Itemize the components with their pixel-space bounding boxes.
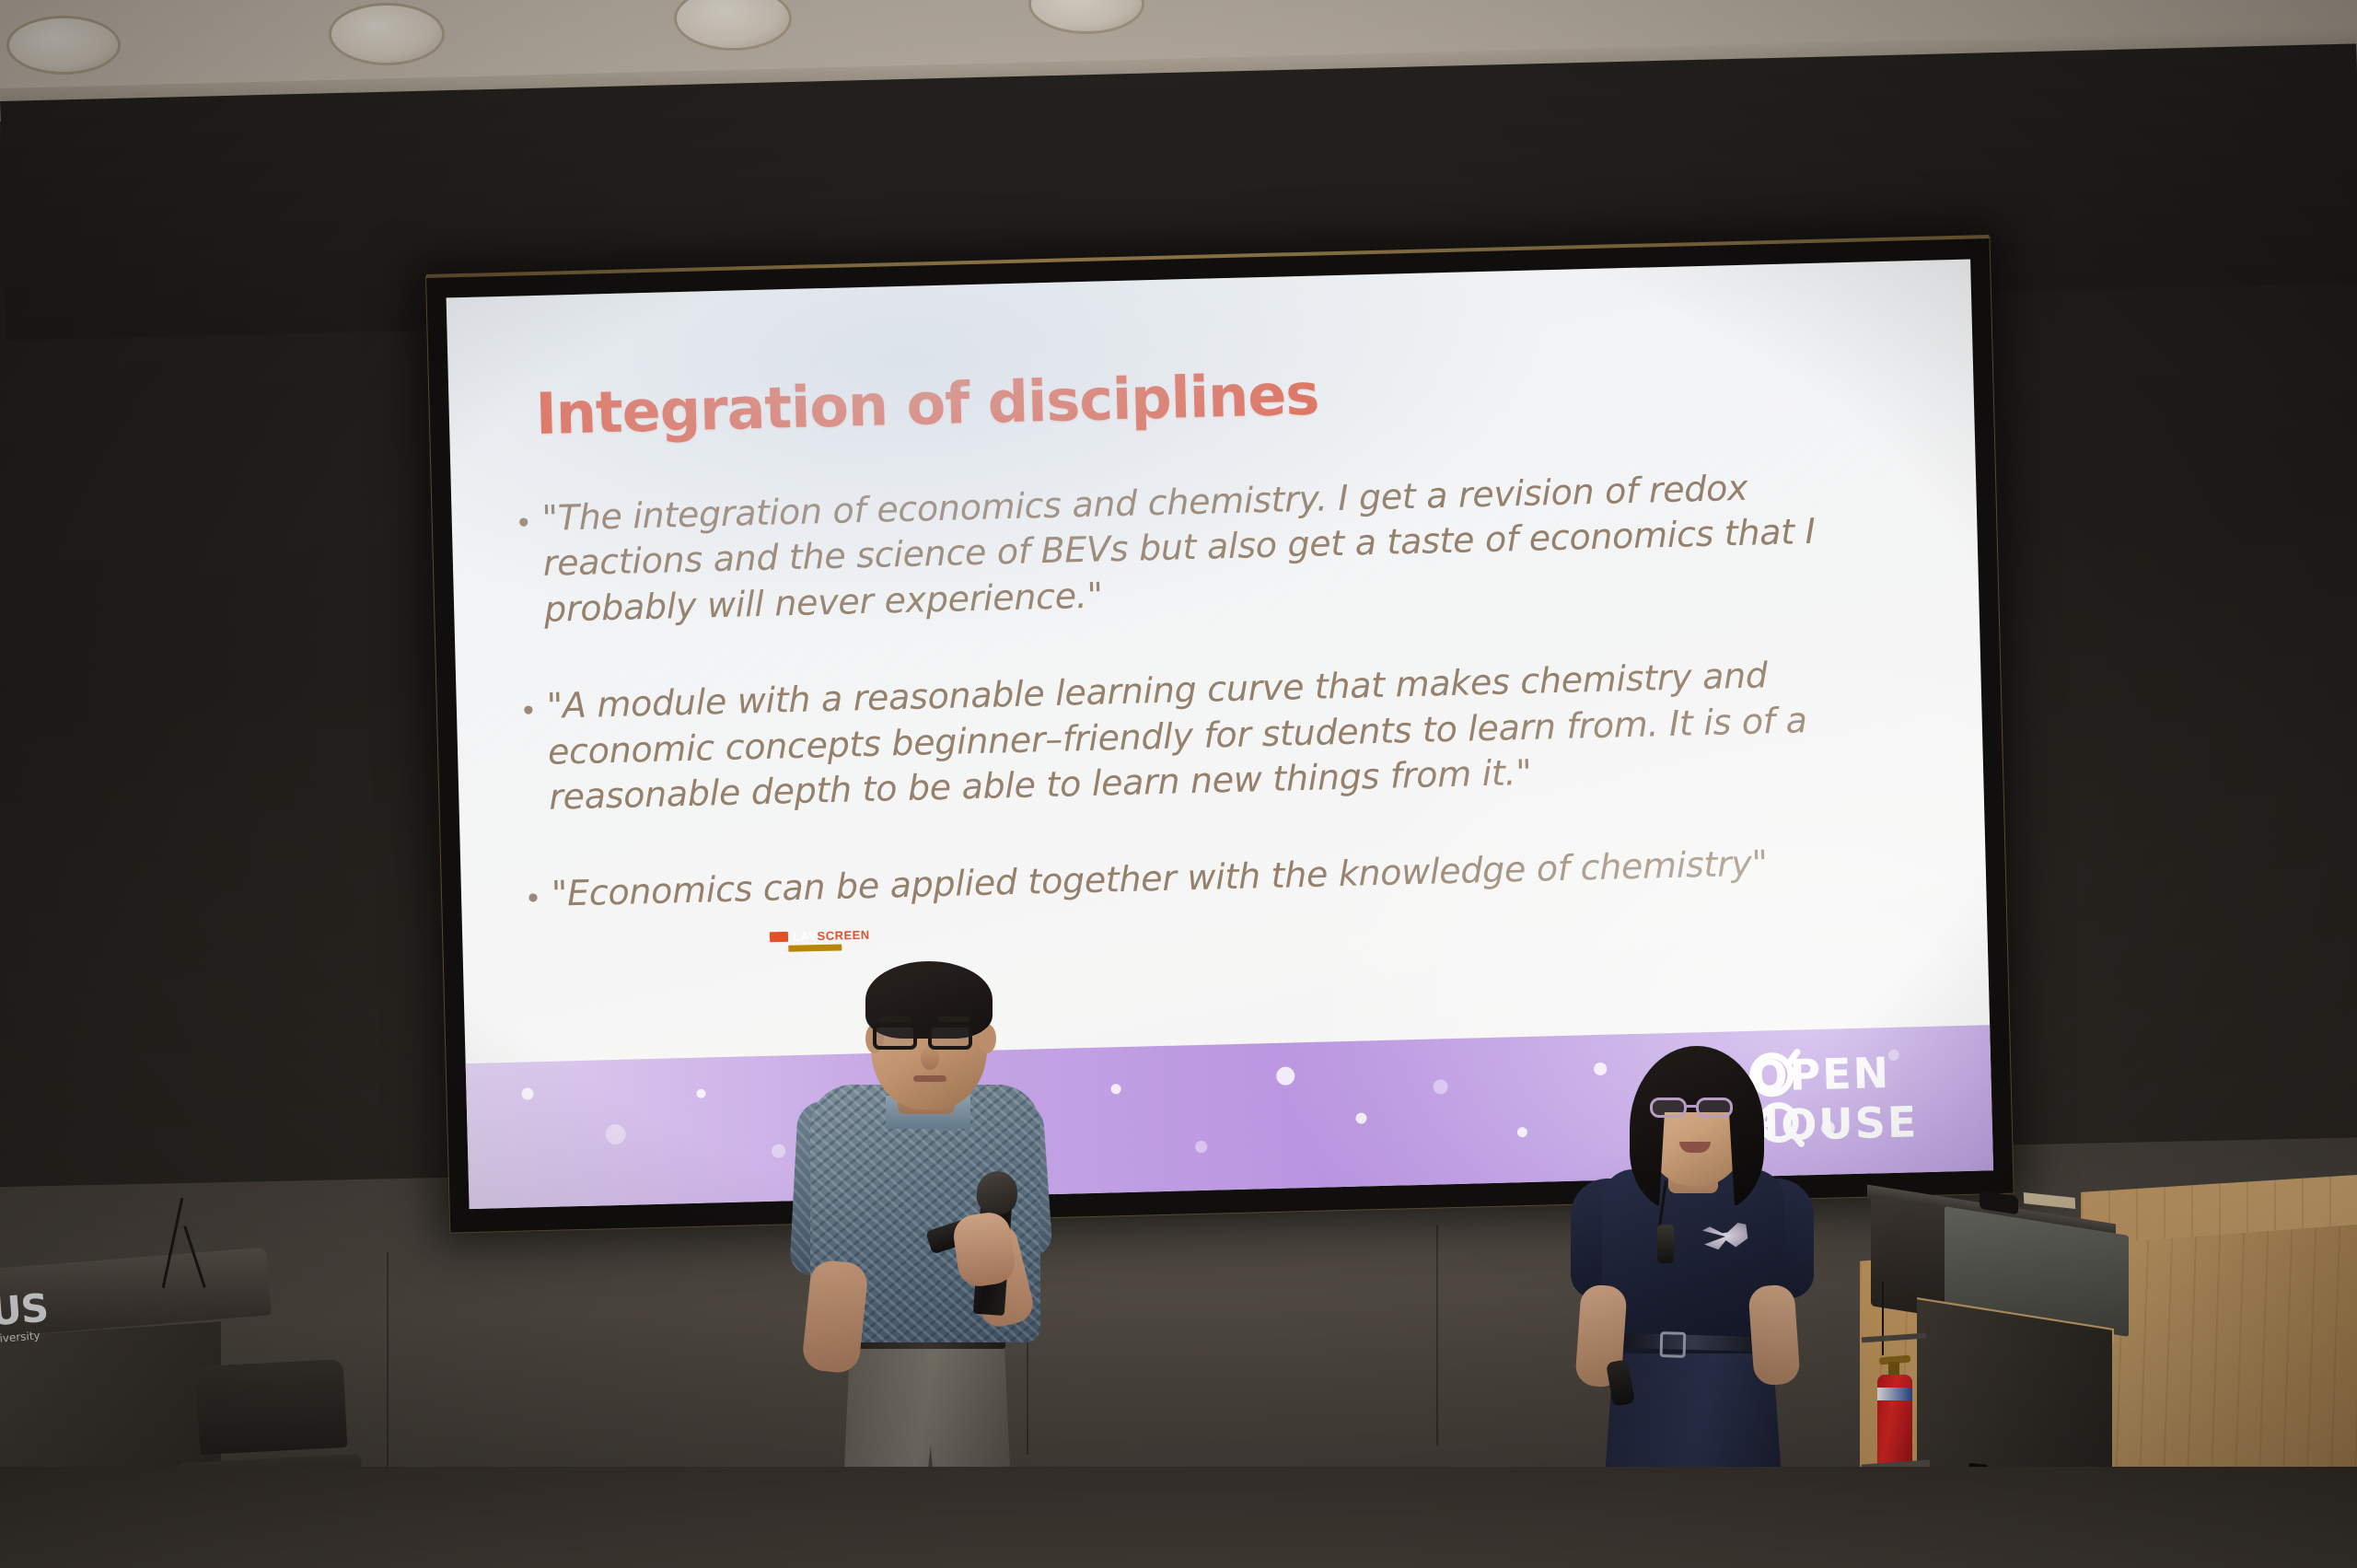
- presenter-left-brow-left: [878, 1016, 911, 1022]
- lavscreen-text-lav: LAV: [793, 929, 818, 944]
- open-house-logo-line1: OPEN: [1751, 1048, 1891, 1101]
- slide-surface: Integration of disciplines • "The integr…: [447, 260, 1994, 1210]
- extinguisher-cable: [1882, 1282, 1884, 1355]
- lecture-theatre-photo: Integration of disciplines • "The integr…: [0, 0, 2357, 1568]
- slide-bullet-1-text: "The integration of economics and chemis…: [541, 464, 1824, 633]
- lavscreen-yellow-bar: [788, 944, 842, 951]
- slide-bullet-2: • "A module with a reasonable learning c…: [522, 649, 1928, 821]
- presenter-right-glasses: [1650, 1098, 1746, 1120]
- presenter-left-brow-right: [937, 1016, 970, 1022]
- projection-screen: Integration of disciplines • "The integr…: [425, 237, 2014, 1234]
- presenter-left-forearm-left: [801, 1259, 869, 1375]
- lavscreen-brand-text: LAVSCREEN: [793, 928, 870, 944]
- nus-logo-text: US: [0, 1285, 50, 1335]
- glasses-bridge: [917, 1033, 928, 1037]
- glasses-bridge: [1687, 1105, 1696, 1108]
- lavscreen-mark-icon: [770, 932, 788, 942]
- glasses-lens-right: [928, 1024, 972, 1050]
- extinguisher-label: [1877, 1388, 1912, 1400]
- nus-logo: US niversity: [0, 1285, 51, 1346]
- slide-bullet-2-text: "A module with a reasonable learning cur…: [546, 652, 1829, 820]
- slide-bullet-list: • "The integration of economics and chem…: [517, 461, 1933, 970]
- ceiling-downlight-1: [9, 18, 118, 72]
- slide-bullet-3-text: "Economics can be applied together with …: [551, 842, 1768, 918]
- open-house-logo-line2: HOUSE: [1743, 1097, 1919, 1151]
- slide-bullet-1: • "The integration of economics and chem…: [517, 461, 1923, 633]
- presenter-right-forearm-right: [1747, 1283, 1800, 1386]
- lavscreen-brand-badge: LAVSCREEN: [770, 928, 870, 945]
- slide-title: Integration of disciplines: [535, 361, 1319, 448]
- chair-backrest: [196, 1359, 348, 1455]
- presenter-left-nose: [921, 1046, 939, 1070]
- fire-extinguisher: [1874, 1349, 1916, 1469]
- wall-panel-seam-3: [387, 1252, 389, 1473]
- glasses-lens-left: [873, 1024, 917, 1050]
- bullet-dot-icon: •: [527, 872, 539, 913]
- bullet-dot-icon: •: [517, 496, 529, 538]
- lavscreen-text-screen: SCREEN: [817, 928, 870, 943]
- wall-panel-seam-2: [1436, 1225, 1438, 1446]
- stage-floor: [0, 1467, 2357, 1568]
- glasses-lens-right: [1696, 1098, 1733, 1118]
- ceiling-downlight-2: [331, 6, 442, 63]
- lapel-microphone: [1657, 1225, 1674, 1263]
- presenter-left-mouth: [913, 1075, 946, 1082]
- bullet-dot-icon: •: [522, 684, 534, 726]
- glasses-lens-left: [1650, 1098, 1687, 1118]
- slide-bullet-3: • "Economics can be applied together wit…: [527, 837, 1931, 918]
